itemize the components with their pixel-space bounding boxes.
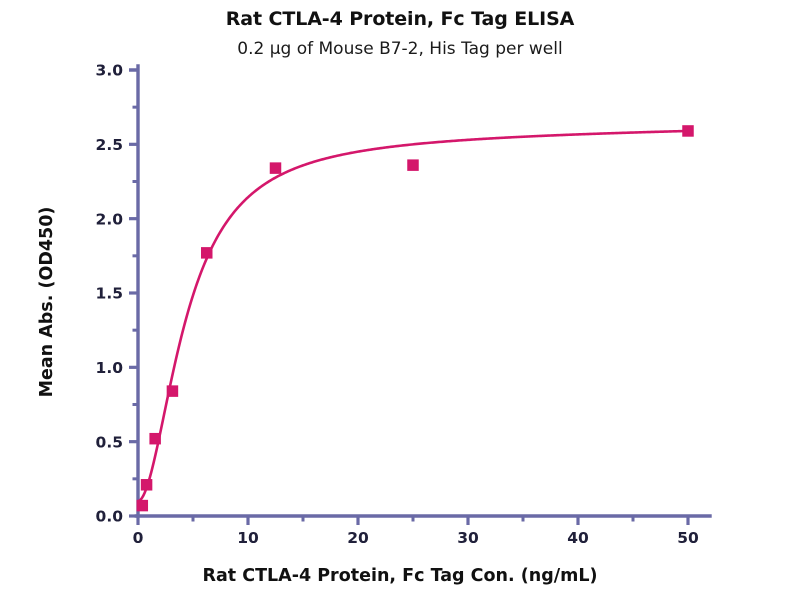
y-axis-tick-label: 1.5: [96, 285, 123, 303]
y-axis-tick-label: 3.0: [96, 62, 124, 80]
data-point-marker: [683, 126, 694, 137]
data-point-marker: [141, 480, 152, 491]
y-axis-tick-label: 0.5: [96, 433, 123, 451]
data-point-marker: [150, 433, 161, 444]
data-marker-layer: [137, 126, 693, 511]
plot-area: 0.00.51.01.52.02.53.001020304050: [0, 0, 800, 600]
data-point-marker: [137, 500, 148, 511]
fit-curve: [138, 131, 688, 501]
elisa-binding-curve-figure: Rat CTLA-4 Protein, Fc Tag ELISA 0.2 µg …: [0, 0, 800, 600]
y-axis-tick-label: 2.0: [96, 210, 124, 228]
data-point-marker: [202, 248, 213, 258]
y-axis-tick-label: 2.5: [96, 136, 123, 154]
x-axis-tick-label: 10: [237, 529, 259, 547]
x-axis-tick-label: 40: [567, 529, 589, 547]
data-point-marker: [167, 386, 178, 397]
y-axis-tick-label: 1.0: [96, 359, 124, 377]
fit-curve-layer: [138, 131, 688, 501]
data-point-marker: [270, 163, 281, 174]
y-axis-tick-label: 0.0: [96, 508, 124, 526]
x-axis-tick-label: 30: [457, 529, 479, 547]
x-axis-tick-label: 0: [133, 529, 144, 547]
data-point-marker: [408, 160, 419, 171]
tick-layer: [129, 70, 688, 525]
x-axis-tick-label: 20: [347, 529, 369, 547]
x-axis-tick-label: 50: [677, 529, 699, 547]
